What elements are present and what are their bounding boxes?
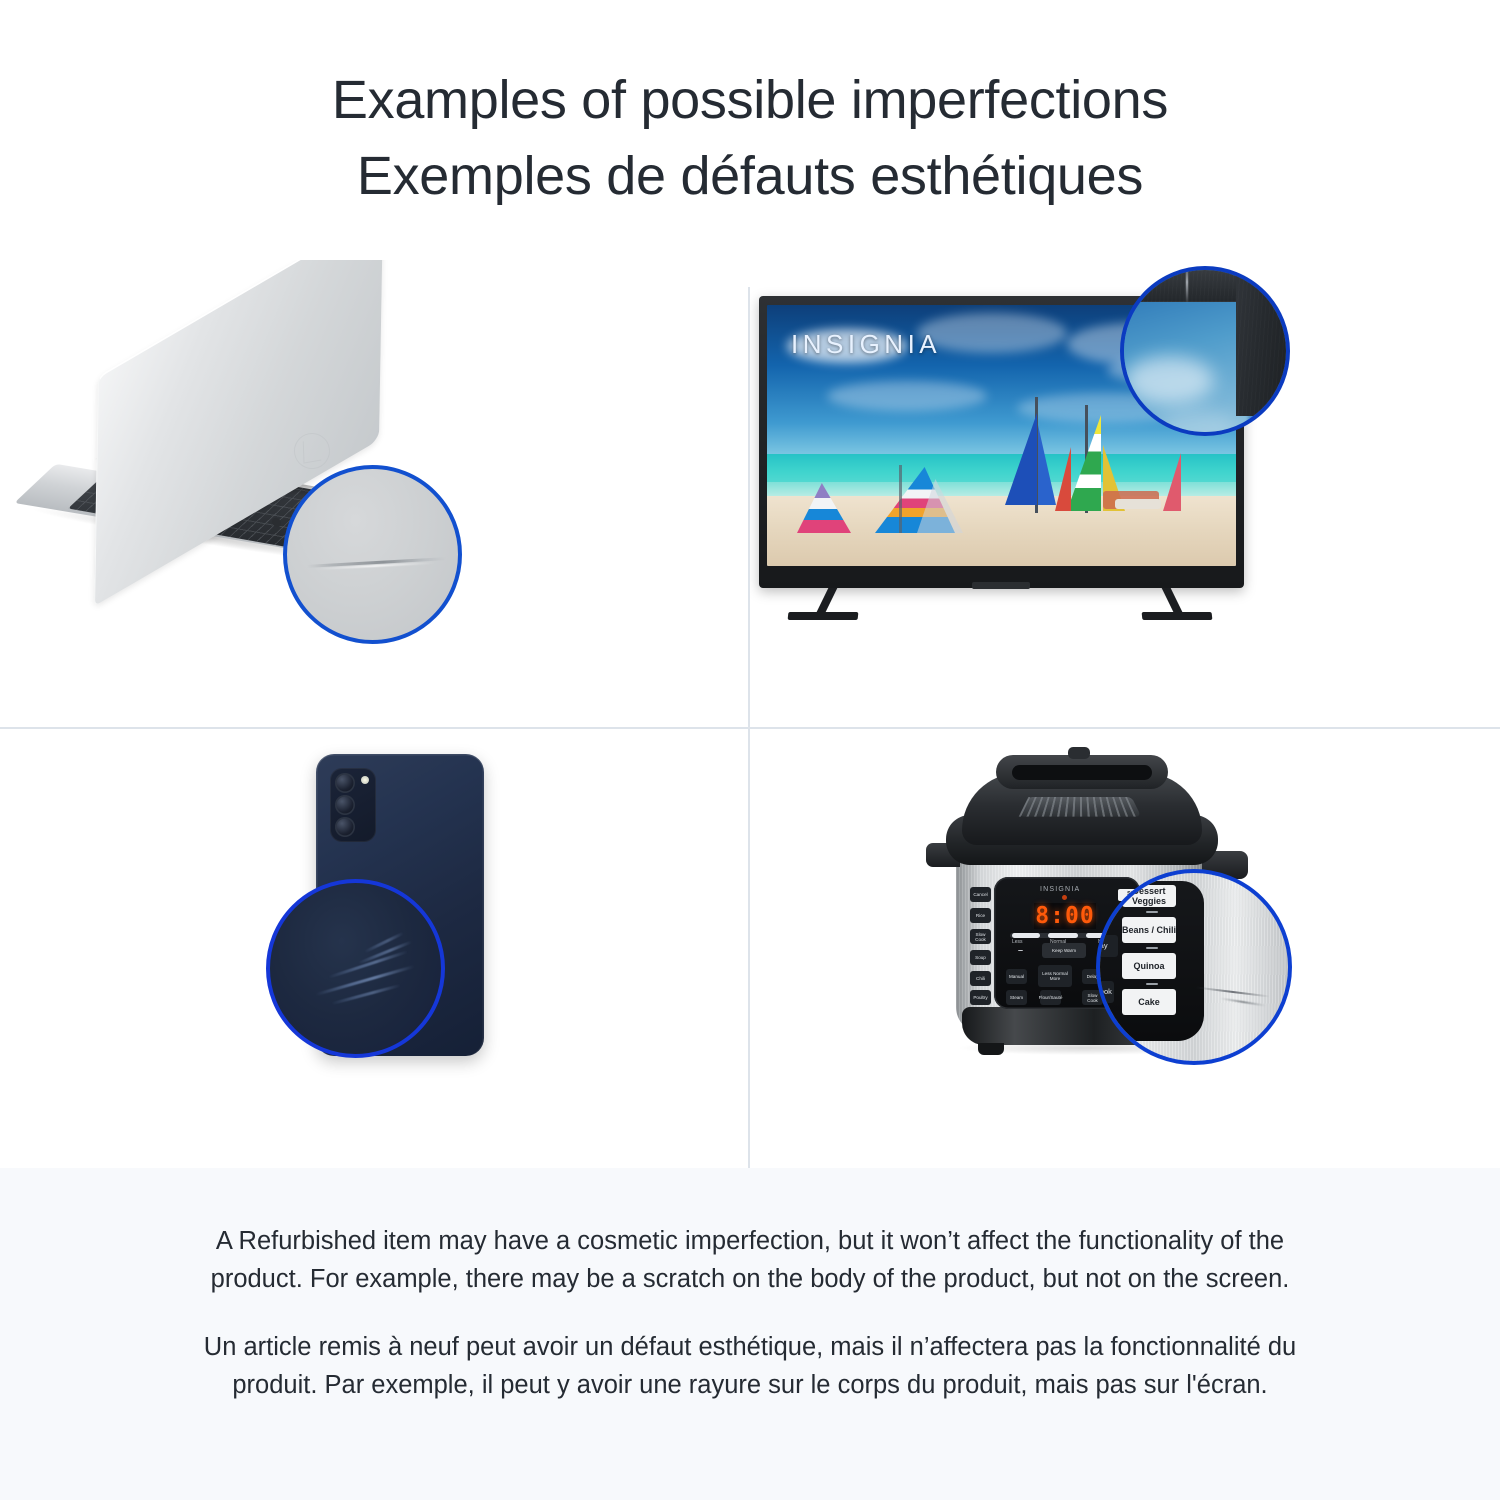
camera-lens-icon bbox=[335, 795, 355, 815]
cooker-foot bbox=[978, 1043, 1004, 1055]
kite-pole bbox=[899, 465, 902, 533]
magnified-button-quinoa[interactable]: Quinoa bbox=[1122, 953, 1176, 979]
cell-smartphone bbox=[0, 729, 748, 1168]
footer-disclaimer: A Refurbished item may have a cosmetic i… bbox=[0, 1168, 1500, 1500]
cooker-button-slow-cook[interactable]: Slow Cook bbox=[970, 929, 991, 944]
scuff-mark bbox=[328, 950, 409, 979]
magnified-tv-corner bbox=[1120, 266, 1290, 436]
pressure-cooker-illustration: INSIGNIA 8:00 Less Normal More Keep Warm… bbox=[750, 729, 1500, 1168]
status-indicator-icon bbox=[1062, 895, 1067, 900]
magnified-button-cake[interactable]: Cake bbox=[1122, 989, 1176, 1015]
refurbished-imperfections-infographic: Examples of possible imperfections Exemp… bbox=[0, 0, 1500, 1500]
cooker-display: 8:00 bbox=[1034, 903, 1096, 929]
tv-foot-right bbox=[1142, 612, 1213, 620]
sail-blue bbox=[1005, 413, 1037, 505]
scuff-mark bbox=[316, 965, 415, 996]
magnifier-phone-scuff bbox=[266, 879, 445, 1058]
pressure-valve-icon bbox=[1068, 747, 1090, 759]
cell-television: INSIGNIA bbox=[750, 260, 1500, 727]
disclaimer-paragraph-en: A Refurbished item may have a cosmetic i… bbox=[185, 1222, 1315, 1298]
magnified-button-dessert-veggies[interactable]: Dessert Veggies bbox=[1122, 885, 1176, 907]
cooker-button-less-normal-more[interactable]: Less Normal More bbox=[1038, 965, 1072, 987]
button-divider bbox=[1146, 983, 1158, 985]
magnified-button-beans-chili[interactable]: Beans / Chili bbox=[1122, 917, 1176, 943]
tv-foot-left bbox=[788, 612, 859, 620]
cloud bbox=[1124, 356, 1214, 404]
sail-blue-jib bbox=[1038, 425, 1056, 505]
level-segment bbox=[1012, 933, 1040, 938]
cell-laptop bbox=[0, 260, 748, 727]
laptop-illustration bbox=[0, 260, 748, 727]
camera-lens-icon bbox=[335, 773, 355, 793]
tv-brand-bar bbox=[972, 582, 1030, 589]
examples-grid: INSIGNIA bbox=[0, 260, 1500, 1168]
disclaimer-paragraph-fr: Un article remis à neuf peut avoir un dé… bbox=[185, 1328, 1315, 1404]
television-illustration: INSIGNIA bbox=[750, 260, 1500, 727]
tv-leg-left bbox=[816, 588, 838, 614]
camera-flash-icon bbox=[361, 776, 369, 784]
cooker-button-chili[interactable]: Chili bbox=[970, 971, 991, 986]
cooker-button-cancel[interactable]: Cancel bbox=[970, 887, 991, 902]
cooker-button-steam[interactable]: Steam bbox=[1006, 990, 1027, 1005]
tv-leg-right bbox=[1162, 588, 1184, 614]
smartphone-illustration bbox=[0, 729, 748, 1168]
cell-pressure-cooker: INSIGNIA 8:00 Less Normal More Keep Warm… bbox=[750, 729, 1500, 1168]
magnifier-tv-bezel bbox=[1120, 266, 1290, 436]
bezel-texture bbox=[1236, 266, 1290, 416]
cooker-button-flour-saute[interactable]: Flour/Sauté bbox=[1040, 990, 1061, 1005]
page-title-en: Examples of possible imperfections bbox=[332, 62, 1168, 138]
cooker-button-soup[interactable]: Soup bbox=[970, 950, 991, 965]
cooker-button-manual[interactable]: Manual bbox=[1006, 969, 1027, 984]
header: Examples of possible imperfections Exemp… bbox=[0, 0, 1500, 260]
cooker-lid-vent-panel bbox=[1019, 797, 1142, 817]
page-title-fr: Exemples de défauts esthétiques bbox=[357, 138, 1143, 214]
magnifier-cooker-scratch: Delay Slow Cook Dessert Veggies Beans / … bbox=[1096, 869, 1292, 1065]
level-segment bbox=[1048, 933, 1078, 938]
button-divider bbox=[1146, 911, 1158, 913]
cooker-brand-logo: INSIGNIA bbox=[1040, 886, 1080, 893]
vent-slots bbox=[1019, 797, 1142, 817]
button-divider bbox=[1146, 947, 1158, 949]
cooker-button-poultry[interactable]: Poultry bbox=[970, 990, 991, 1005]
scratch-mark bbox=[1186, 266, 1188, 302]
beach-item bbox=[1115, 499, 1161, 509]
cloud bbox=[827, 381, 987, 411]
cooker-button-keep-warm[interactable]: Keep Warm bbox=[1042, 943, 1086, 958]
tv-brand-logo: INSIGNIA bbox=[791, 329, 941, 360]
cooker-button-rice[interactable]: Rice bbox=[970, 908, 991, 923]
minus-icon[interactable]: – bbox=[1018, 945, 1023, 955]
cooker-handle-opening bbox=[1012, 765, 1152, 780]
magnified-button-delay[interactable]: Delay bbox=[1096, 935, 1118, 957]
magnified-bezel-right bbox=[1236, 266, 1290, 416]
camera-lens-icon bbox=[335, 817, 355, 837]
magnifier-laptop-scratch bbox=[283, 465, 462, 644]
